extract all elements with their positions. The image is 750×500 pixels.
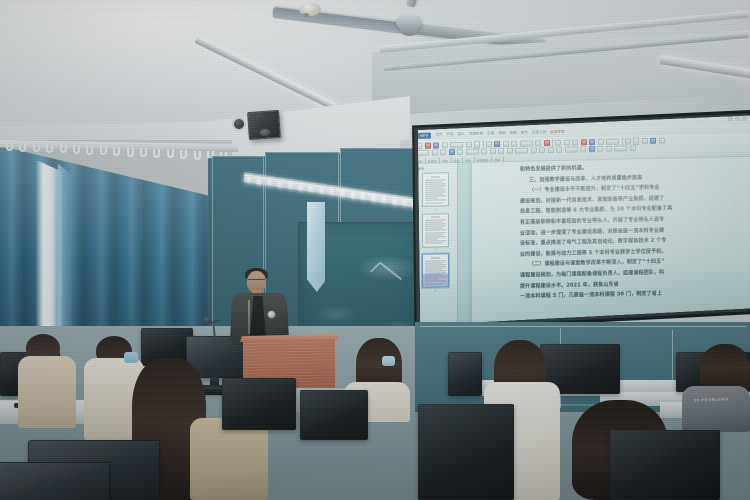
ribbon-command-icon[interactable] [490, 148, 496, 154]
workspace: 目录 123 和特色发展提供了新的机遇。三、加强教学建设与改革，人才培养质量稳步… [414, 157, 750, 324]
ribbon-command-icon[interactable] [555, 139, 561, 145]
page-thumbnail-list[interactable]: 123 [415, 172, 456, 292]
instructor-glasses-icon [248, 279, 265, 283]
ribbon-command-icon[interactable] [535, 140, 541, 146]
hanging-banner [307, 202, 325, 292]
ribbon-tab-视图[interactable]: 视图 [510, 131, 517, 136]
curtain-hook [73, 145, 80, 154]
classroom-photo: 2021年度教学工作总结报告.docx - WPS Office WPS文件开始… [0, 0, 750, 500]
ribbon-command-icon[interactable] [597, 146, 603, 152]
ribbon-command-icon[interactable] [565, 146, 578, 152]
instructor-jacket-badge [267, 310, 276, 319]
curtain-hooks [0, 141, 236, 159]
curtain-hook [19, 143, 26, 152]
page-thumbnail-item[interactable]: 2 [422, 213, 449, 252]
ribbon-command-icon[interactable] [531, 147, 537, 153]
ribbon-tab-会员专享[interactable]: 会员专享 [550, 130, 564, 135]
board-lamp [256, 178, 263, 185]
ribbon-command-icon[interactable] [440, 149, 446, 155]
curtain-hook [153, 149, 160, 158]
ribbon-command-icon[interactable] [659, 137, 665, 143]
ribbon-command-icon[interactable] [449, 149, 455, 155]
ceiling-fan-motor [401, 27, 418, 36]
ribbon-command-icon[interactable] [432, 149, 438, 155]
document-text-body: 和特色发展提供了新的机遇。三、加强教学建设与改革，人才培养质量稳步提高（一）专业… [520, 160, 749, 303]
maximize-icon[interactable] [735, 116, 740, 121]
ribbon-command-icon[interactable] [466, 141, 472, 147]
thumbnail-heading-line [431, 176, 439, 177]
ribbon-command-icon[interactable] [580, 146, 586, 152]
window-light-gap-inner [58, 158, 72, 348]
ribbon-tab-引用[interactable]: 引用 [487, 131, 494, 136]
monitor [300, 390, 368, 440]
ribbon-separator [622, 137, 623, 145]
ribbon-command-icon[interactable] [581, 139, 587, 145]
speaker-cone [259, 129, 270, 137]
ribbon-command-icon[interactable] [450, 141, 463, 147]
board-lamp [319, 187, 326, 194]
ribbon-command-icon[interactable] [515, 148, 528, 154]
ribbon-command-icon[interactable] [511, 140, 517, 146]
curtain-hook [6, 142, 13, 151]
curtain-hook [194, 151, 201, 160]
board-lamp [288, 182, 295, 189]
document-page[interactable]: 和特色发展提供了新的机遇。三、加强教学建设与改革，人才培养质量稳步提高（一）专业… [472, 157, 750, 323]
ribbon-tab-文件[interactable]: 文件 [435, 132, 442, 137]
ribbon-command-icon[interactable] [544, 140, 550, 146]
ribbon-tab-页面布局[interactable]: 页面布局 [469, 132, 483, 137]
page-thumbnail[interactable] [422, 253, 449, 288]
thumbnail-text-line [425, 202, 443, 203]
smoke-detector-led [303, 13, 309, 17]
ribbon-command-icon[interactable] [572, 139, 578, 145]
ribbon-command-icon[interactable] [498, 148, 504, 154]
ribbon-command-icon[interactable] [589, 139, 595, 145]
ribbon-command-icon[interactable] [633, 137, 639, 145]
monitor [222, 378, 296, 430]
thumbnail-text-line [425, 196, 446, 197]
thumbnail-heading-line [431, 216, 439, 217]
ribbon-tab-logo[interactable]: WPS [417, 132, 431, 138]
ribbon-command-icon[interactable] [642, 137, 648, 143]
student-jacket [682, 386, 750, 432]
thumbnail-text-line [425, 236, 446, 237]
navigation-pane-title: 目录 [418, 165, 456, 171]
ribbon-command-icon[interactable] [606, 146, 612, 152]
curtain-hook [127, 148, 134, 157]
ribbon-command-icon[interactable] [539, 147, 545, 153]
page-thumbnail[interactable] [422, 172, 449, 207]
monitor [418, 404, 514, 500]
ribbon-command-icon[interactable] [650, 137, 656, 143]
ribbon-command-icon[interactable] [474, 140, 480, 148]
curtain-hook [167, 149, 174, 158]
monitor [448, 352, 482, 396]
wall-camera-icon [234, 119, 244, 129]
face-mask-icon [124, 352, 138, 363]
thumbnail-page-number: 2 [435, 248, 437, 252]
ribbon-group-label-字体: 字体 [442, 159, 448, 163]
ribbon-command-icon[interactable] [494, 141, 500, 147]
ribbon-command-icon[interactable] [433, 142, 439, 148]
board-lamp [340, 190, 347, 197]
board-lamp [350, 192, 357, 199]
curtain-hook [60, 144, 67, 153]
ribbon-command-icon[interactable] [556, 147, 562, 153]
student-jacket [190, 418, 268, 500]
curtain-hook [100, 146, 107, 155]
ribbon-tab-插入[interactable]: 插入 [458, 132, 465, 137]
ribbon-command-icon[interactable] [630, 145, 636, 151]
board-lamp [277, 181, 284, 188]
curtain-hook [113, 147, 120, 156]
document-scroll-area[interactable]: 和特色发展提供了新的机遇。三、加强教学建设与改革，人才培养质量稳步提高（一）专业… [458, 157, 750, 323]
ribbon-command-icon[interactable] [466, 149, 479, 155]
projected-application[interactable]: 2021年度教学工作总结报告.docx - WPS Office WPS文件开始… [414, 113, 750, 328]
wall-trim-line [420, 326, 746, 327]
ribbon-command-icon[interactable] [503, 140, 509, 146]
board-lamp [267, 179, 274, 186]
thumbnail-page-number: 1 [435, 207, 437, 211]
minimize-icon[interactable] [728, 116, 733, 121]
ribbon-command-icon[interactable] [457, 149, 463, 155]
page-thumbnail[interactable] [422, 213, 449, 248]
ribbon-command-icon[interactable] [486, 141, 492, 147]
thumbnail-heading-line [431, 257, 439, 258]
ribbon-tab-审阅[interactable]: 审阅 [498, 131, 505, 136]
projection-screen[interactable]: 2021年度教学工作总结报告.docx - WPS Office WPS文件开始… [414, 113, 750, 328]
ribbon-command-icon[interactable] [520, 140, 533, 146]
window-controls[interactable] [728, 116, 747, 121]
thumbnail-text-line [425, 198, 438, 199]
ribbon-command-icon[interactable] [425, 142, 431, 148]
ribbon-command-icon[interactable] [606, 138, 619, 144]
ribbon-command-icon[interactable] [614, 145, 627, 151]
close-icon[interactable] [742, 116, 747, 121]
ribbon-command-icon[interactable] [625, 138, 631, 144]
ceiling-speaker-icon [247, 110, 281, 140]
ribbon-command-icon[interactable] [564, 139, 570, 145]
curtain-hook [180, 150, 187, 159]
ribbon-command-icon[interactable] [548, 147, 554, 153]
ribbon-separator [552, 139, 553, 147]
board-lamp [246, 176, 253, 183]
ribbon-command-icon[interactable] [589, 146, 595, 152]
page-thumbnail-item[interactable]: 1 [422, 172, 449, 211]
board-lamp [298, 184, 305, 191]
curtain-hook [86, 146, 93, 155]
board-lamp [392, 198, 399, 205]
face-mask-icon [382, 356, 395, 366]
student-jacket [18, 356, 76, 428]
monitor [610, 430, 720, 500]
ribbon-tab-章节[interactable]: 章节 [521, 131, 528, 136]
ribbon-command-icon[interactable] [507, 148, 513, 154]
navigation-pane[interactable]: 目录 123 [414, 163, 458, 324]
curtain-hook [140, 148, 147, 157]
ribbon-command-icon[interactable] [481, 148, 487, 154]
thumbnail-page-number: 3 [435, 288, 437, 292]
ribbon-separator [483, 140, 484, 148]
thumbnail-selection-highlight [423, 273, 448, 287]
board-lamp [371, 195, 378, 202]
page-thumbnail-item[interactable]: 3 [422, 253, 449, 292]
curtain-hook [46, 144, 53, 153]
ribbon-tab-开始[interactable]: 开始 [446, 132, 453, 137]
thumbnail-text-line [425, 242, 443, 243]
ribbon-tab-开发工具[interactable]: 开发工具 [532, 130, 546, 135]
thumbnail-text-line [425, 238, 438, 239]
ribbon-group-label-段落: 段落 [454, 159, 460, 163]
ribbon-command-icon[interactable] [442, 142, 448, 148]
ribbon-command-icon[interactable] [598, 138, 604, 144]
curtain-hook [33, 143, 40, 152]
monitor [0, 462, 110, 500]
instructor-jacket-zip [248, 300, 250, 334]
